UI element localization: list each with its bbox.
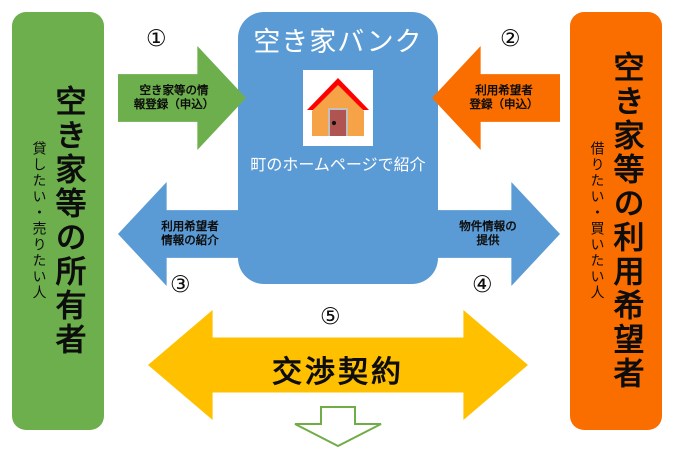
arrow-step-2: 利用希望者 登録（申込） (432, 46, 560, 150)
akiya-bank-hub: 空き家バンク 町のホームページで紹介 (238, 12, 438, 284)
arrow-step-2-label: 利用希望者 登録（申込） (470, 84, 539, 113)
arrow-step-5-label: 交渉契約 (272, 347, 404, 391)
hub-title: 空き家バンク (253, 28, 422, 58)
seeker-pillar: 空き家等の利用希望者 借りたい・買いたい人 (570, 12, 662, 430)
arrow-step-1: 空き家等の情 報登録（申込） (118, 46, 246, 150)
seeker-sub-label: 借りたい・買いたい人 (591, 141, 605, 301)
owner-pillar-text: 空き家等の所有者 貸したい・売りたい人 (12, 12, 104, 430)
step-number-2: ② (500, 28, 521, 51)
arrow-step-3-label: 利用希望者 情報の紹介 (161, 220, 219, 249)
arrow-step-4: 物件情報の 提供 (432, 182, 560, 286)
owner-pillar: 空き家等の所有者 貸したい・売りたい人 (12, 12, 104, 430)
step-number-3: ③ (170, 274, 191, 297)
owner-sub-label: 貸したい・売りたい人 (33, 141, 47, 301)
seeker-pillar-text: 空き家等の利用希望者 借りたい・買いたい人 (570, 12, 662, 430)
hub-caption: 町のホームページで紹介 (250, 156, 425, 176)
arrow-step-3: 利用希望者 情報の紹介 (118, 182, 246, 286)
seeker-main-label: 空き家等の利用希望者 (611, 51, 642, 391)
down-arrow-outline-icon (293, 406, 383, 448)
owner-main-label: 空き家等の所有者 (53, 85, 84, 357)
step-number-5: ⑤ (320, 306, 341, 329)
diagram-canvas: 空き家等の所有者 貸したい・売りたい人 空き家等の利用希望者 借りたい・買いたい… (0, 0, 675, 450)
arrow-step-4-label: 物件情報の 提供 (459, 220, 517, 249)
house-icon (303, 70, 373, 146)
step-number-4: ④ (472, 274, 493, 297)
arrow-step-1-label: 空き家等の情 報登録（申込） (134, 84, 215, 113)
step-number-1: ① (146, 28, 167, 51)
